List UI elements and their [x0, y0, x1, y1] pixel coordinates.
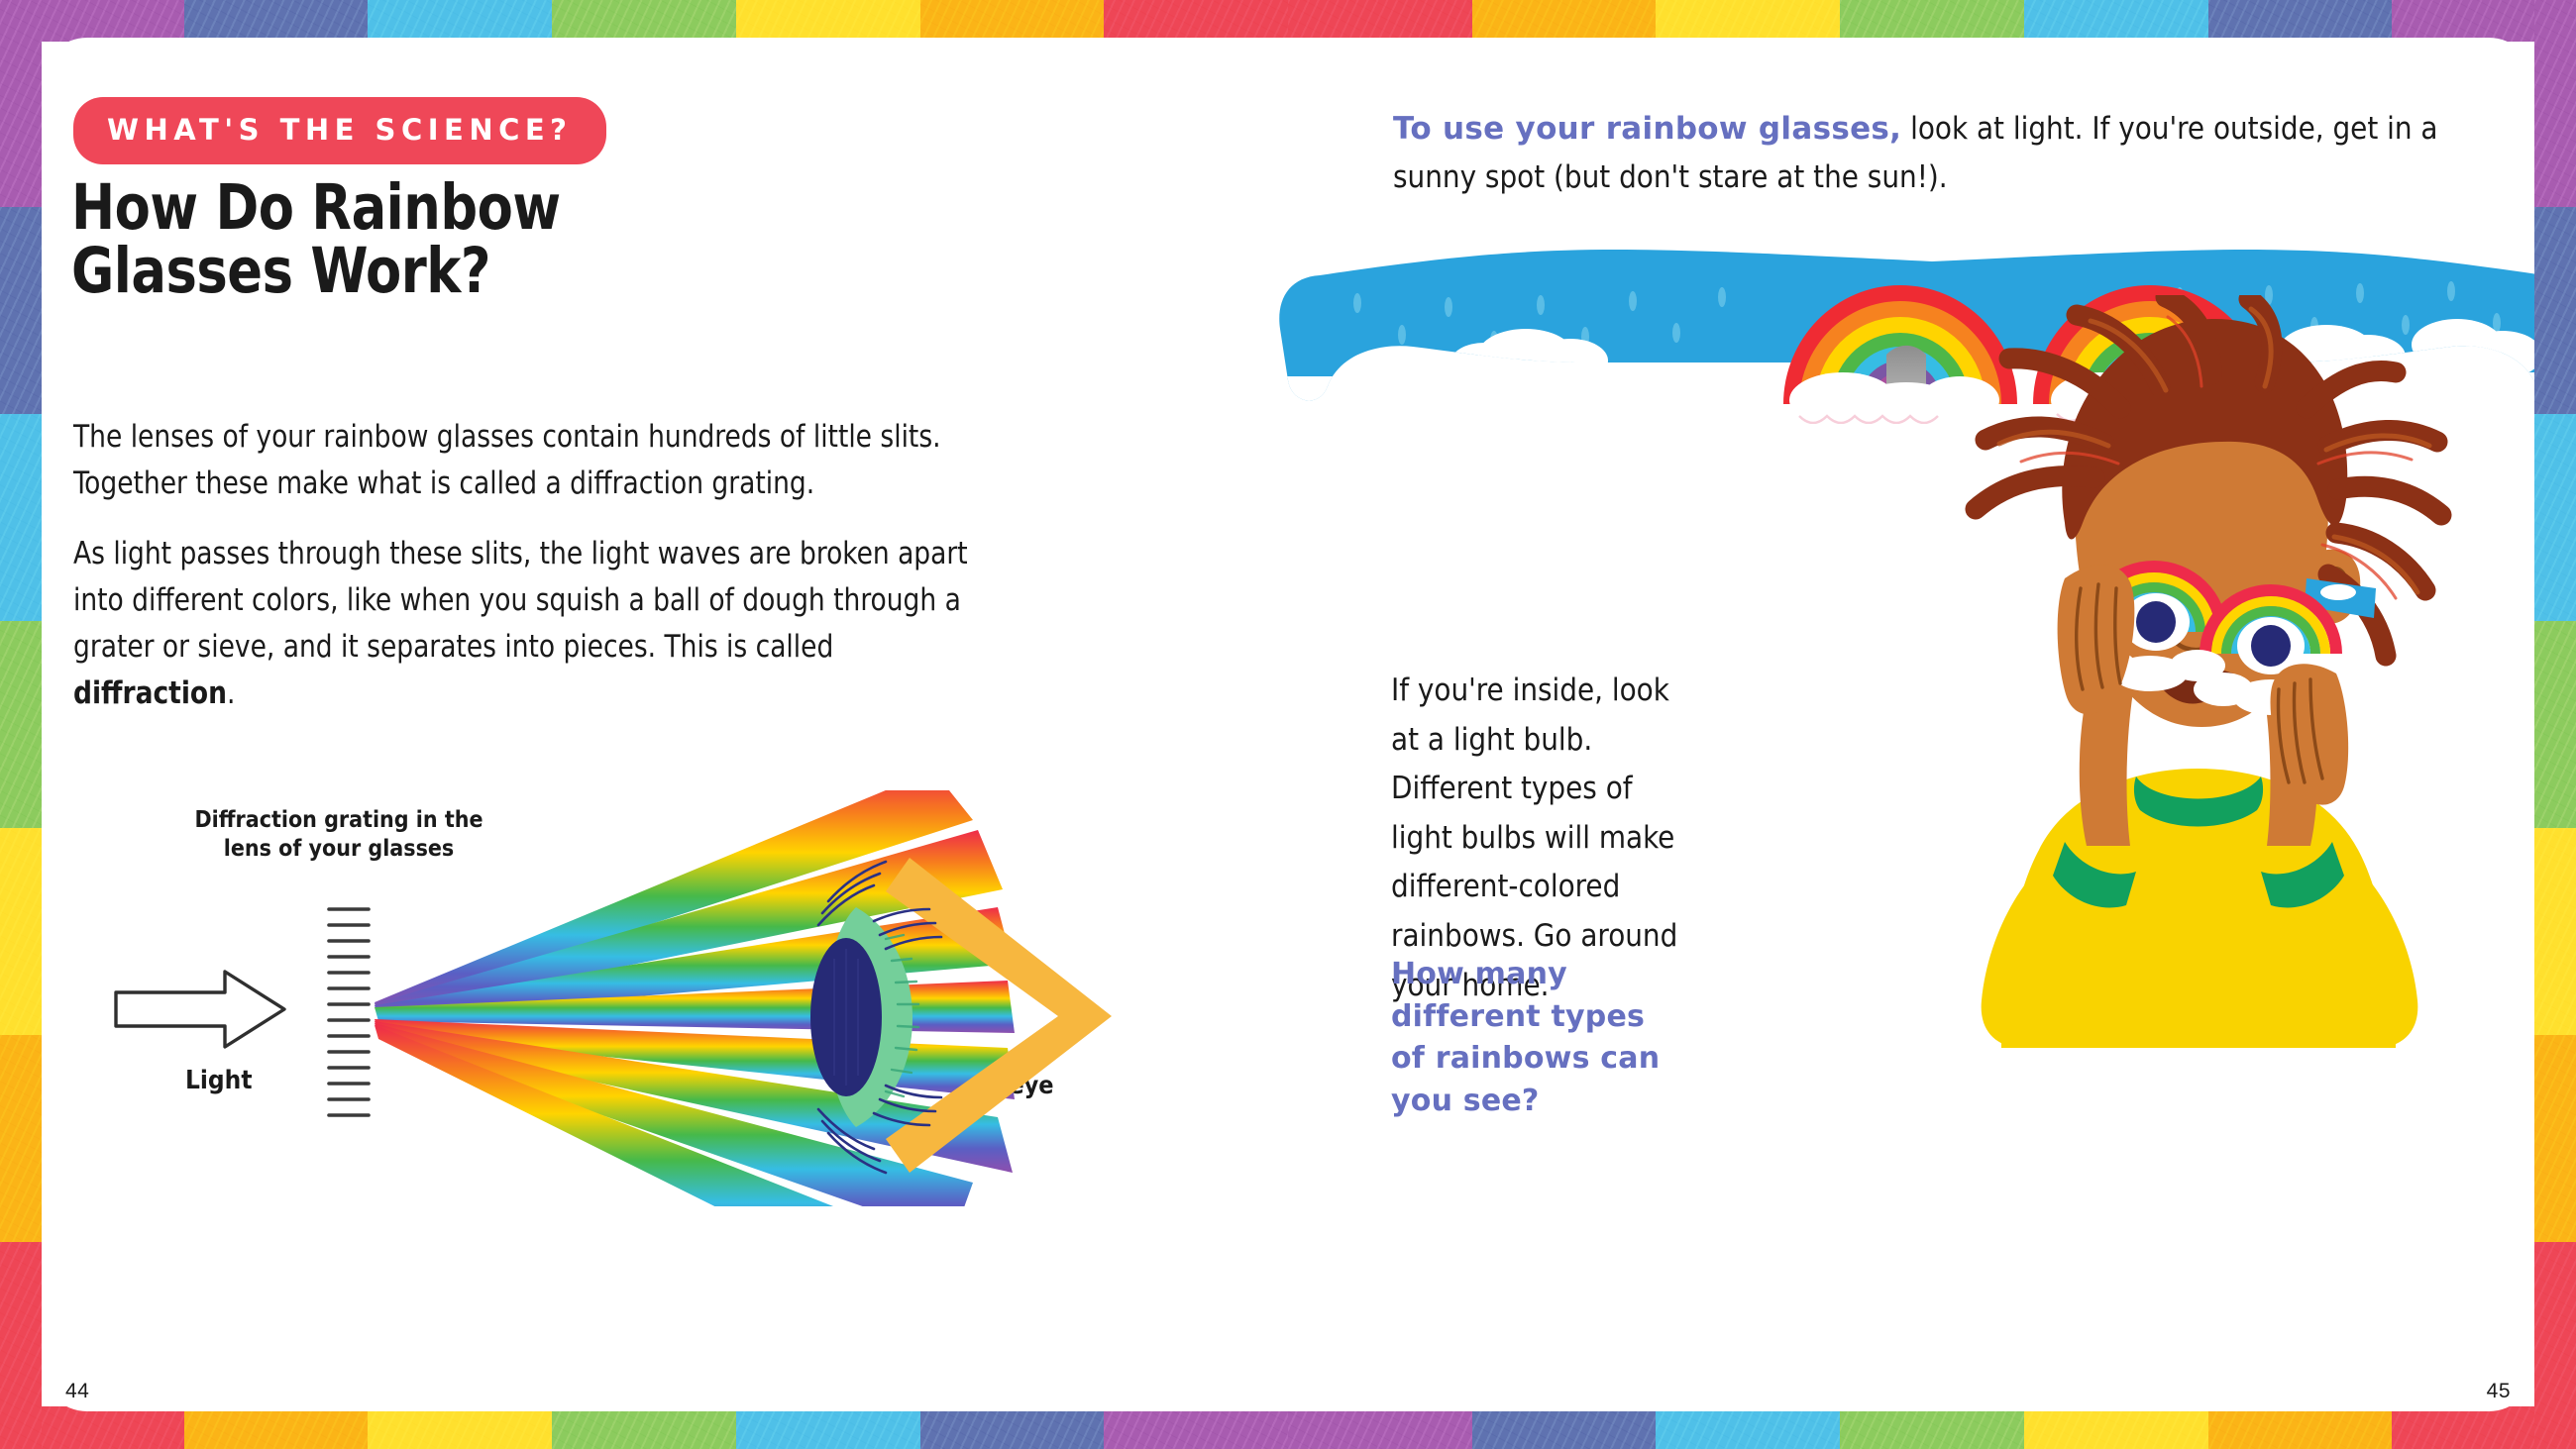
- question-line-2: of rainbows can you see?: [1391, 1038, 1718, 1122]
- grating-slits-icon: [329, 909, 369, 1115]
- paragraph-diffraction-text: As light passes through these slits, the…: [73, 536, 968, 665]
- border-right-tile-6: [2534, 1242, 2576, 1449]
- diffraction-diagram: Diffraction grating in the lens of your …: [81, 790, 1260, 1206]
- border-bottom-tile-5: [920, 1406, 1105, 1449]
- border-right-tile-5: [2534, 1035, 2576, 1242]
- page-spread-card: WHAT'S THE SCIENCE? How Do Rainbow Glass…: [42, 38, 2534, 1411]
- border-bottom-tile-3: [552, 1406, 736, 1449]
- border-bottom-tile-9: [1656, 1406, 1840, 1449]
- border-top-tile-9: [1656, 0, 1840, 42]
- diffraction-diagram-svg: [81, 790, 1260, 1206]
- border-bottom-tile-1: [184, 1406, 369, 1449]
- border-bottom-tile-10: [1840, 1406, 2024, 1449]
- border-bottom-tile-2: [368, 1406, 552, 1449]
- paragraph-how-to-use: To use your rainbow glasses, look at lig…: [1393, 105, 2453, 202]
- left-iris-icon: [2136, 601, 2176, 643]
- border-left: [0, 0, 42, 1449]
- border-top-tile-2: [368, 0, 552, 42]
- page-number-right: 45: [2487, 1380, 2511, 1403]
- border-bottom-tile-11: [2024, 1406, 2208, 1449]
- border-top-tile-11: [2024, 0, 2208, 42]
- border-right: [2534, 0, 2576, 1449]
- border-right-tile-1: [2534, 207, 2576, 414]
- child-illustration-svg: [1871, 295, 2524, 1048]
- border-top-tile-12: [2208, 0, 2393, 42]
- border-left-tile-2: [0, 414, 42, 621]
- question-line-1: How many different types: [1391, 954, 1718, 1038]
- border-left-tile-1: [0, 207, 42, 414]
- border-right-tile-2: [2534, 414, 2576, 621]
- border-top-tile-6: [1104, 0, 1288, 42]
- border-right-tile-3: [2534, 621, 2576, 828]
- border-bottom-tile-4: [736, 1406, 920, 1449]
- page-number-left: 44: [65, 1380, 89, 1403]
- paragraph-lenses: The lenses of your rainbow glasses conta…: [73, 414, 977, 507]
- page-title: How Do Rainbow Glasses Work?: [71, 176, 698, 304]
- border-left-tile-4: [0, 828, 42, 1035]
- page-title-line-1: How Do Rainbow: [71, 176, 698, 240]
- border-bottom-tile-8: [1472, 1406, 1657, 1449]
- page-title-line-2: Glasses Work?: [71, 240, 698, 303]
- question-prompt: How many different types of rainbows can…: [1391, 954, 1718, 1122]
- border-left-tile-3: [0, 621, 42, 828]
- border-bottom: [0, 1406, 2576, 1449]
- child-illustration: [1871, 295, 2524, 1048]
- border-right-tile-4: [2534, 828, 2576, 1035]
- science-badge: WHAT'S THE SCIENCE?: [73, 97, 606, 164]
- border-bottom-tile-7: [1288, 1406, 1472, 1449]
- border-top: [0, 0, 2576, 42]
- right-iris-icon: [2251, 625, 2291, 667]
- border-right-tile-0: [2534, 0, 2576, 207]
- border-left-tile-6: [0, 1242, 42, 1449]
- border-top-tile-8: [1472, 0, 1657, 42]
- border-top-tile-1: [184, 0, 369, 42]
- border-bottom-tile-12: [2208, 1406, 2393, 1449]
- left-page: WHAT'S THE SCIENCE? How Do Rainbow Glass…: [42, 38, 1288, 1411]
- light-arrow-icon: [116, 972, 284, 1047]
- paragraph-diffraction-period: .: [227, 675, 235, 711]
- border-left-tile-5: [0, 1035, 42, 1242]
- border-top-tile-10: [1840, 0, 2024, 42]
- right-page: To use your rainbow glasses, look at lig…: [1288, 38, 2534, 1411]
- border-left-tile-0: [0, 0, 42, 207]
- child-shirt: [1982, 769, 2418, 1048]
- intro-bold-lead: To use your rainbow glasses,: [1393, 111, 1901, 147]
- border-top-tile-4: [736, 0, 920, 42]
- diffraction-keyword: diffraction: [73, 675, 227, 711]
- border-top-tile-3: [552, 0, 736, 42]
- border-bottom-tile-6: [1104, 1406, 1288, 1449]
- paragraph-diffraction: As light passes through these slits, the…: [73, 531, 977, 717]
- border-top-tile-7: [1288, 0, 1472, 42]
- border-top-tile-5: [920, 0, 1105, 42]
